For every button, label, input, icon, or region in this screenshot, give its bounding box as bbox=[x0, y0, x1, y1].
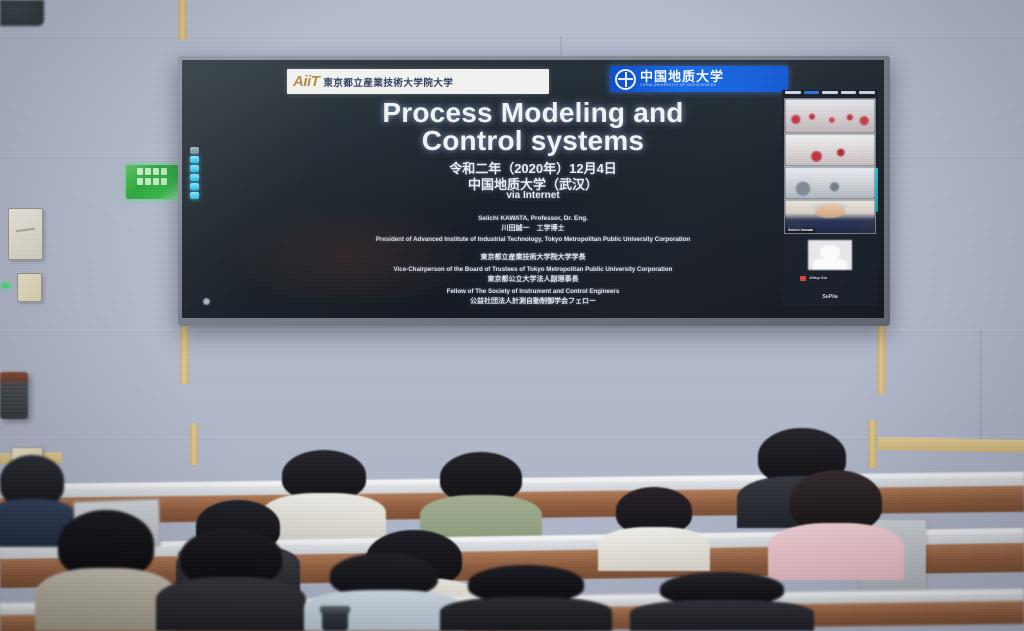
annotation-toolbar[interactable] bbox=[190, 147, 199, 199]
shape-tool-icon[interactable] bbox=[190, 174, 199, 181]
mic-muted-icon bbox=[800, 276, 806, 281]
wall-accent-stripe bbox=[190, 423, 198, 465]
pen-tool-icon[interactable] bbox=[190, 147, 199, 154]
video-panel-toolbar[interactable] bbox=[782, 90, 878, 95]
eraser-tool-icon[interactable] bbox=[190, 165, 199, 172]
travel-cup-on-desk[interactable] bbox=[322, 606, 348, 631]
student-back-1 bbox=[282, 450, 366, 540]
wall-accent-stripe bbox=[178, 0, 187, 40]
vc-toolbar-chip[interactable] bbox=[841, 91, 857, 94]
wall-seam bbox=[980, 330, 982, 440]
video-tile-remote-classroom-3[interactable] bbox=[784, 166, 876, 200]
student-mid-3 bbox=[616, 487, 692, 571]
slide-mode-line: via Internet bbox=[182, 190, 884, 201]
cug-logo-cn-text: 中国地质大学 bbox=[640, 70, 724, 84]
video-tile-name-label: Seiichi Kawata bbox=[786, 228, 815, 233]
wall-accent-stripe bbox=[868, 420, 877, 468]
video-conference-panel[interactable]: Seiichi Kawata Jiffup Xiu SuPiia bbox=[782, 90, 878, 306]
self-view-avatar[interactable] bbox=[808, 240, 852, 270]
wall-accent-stripe bbox=[877, 322, 886, 394]
credential-line: Seiichi KAWATA, Professor, Dr. Eng. bbox=[182, 215, 884, 223]
student-mid-1 bbox=[0, 455, 64, 547]
wall-outlet-box[interactable] bbox=[17, 273, 42, 302]
pointer-tool-icon[interactable] bbox=[190, 183, 199, 190]
cug-logo: 中国地质大学 CHINA UNIVERSITY OF GEOSCIENCES bbox=[610, 66, 788, 92]
wall-seam bbox=[0, 330, 1024, 332]
credential-line: 川田誠一 工学博士 bbox=[182, 225, 884, 233]
vc-toolbar-chip[interactable] bbox=[785, 91, 801, 94]
video-tile-remote-classroom-2[interactable] bbox=[784, 133, 876, 167]
highlighter-tool-icon[interactable] bbox=[190, 156, 199, 163]
lecture-hall-screenshot: AiiT 東京都立産業技術大学院大学 中国地质大学 CHINA UNIVERSI… bbox=[0, 0, 1024, 631]
ceiling-speaker-unit bbox=[0, 372, 28, 419]
video-tile-remote-classroom-1[interactable] bbox=[784, 98, 876, 134]
presentation-display-bezel: AiiT 東京都立産業技術大学院大学 中国地质大学 CHINA UNIVERSI… bbox=[178, 56, 890, 326]
active-speaker-indicator bbox=[875, 168, 878, 212]
wall-control-box[interactable] bbox=[8, 208, 43, 260]
credential-line: Fellow of The Society of Instrument and … bbox=[182, 288, 884, 295]
video-tile-remote-speaker[interactable]: Seiichi Kawata bbox=[784, 199, 876, 234]
vc-toolbar-chip[interactable] bbox=[822, 91, 838, 94]
student-front-2 bbox=[180, 528, 282, 631]
cug-logo-en-text: CHINA UNIVERSITY OF GEOSCIENCES bbox=[640, 84, 724, 88]
vc-toolbar-chip[interactable] bbox=[859, 91, 875, 94]
status-led bbox=[2, 283, 9, 288]
aiit-logo-jp-text: 東京都立産業技術大学院大学 bbox=[323, 75, 453, 89]
student-mid-5 bbox=[790, 470, 882, 580]
wall-seam bbox=[0, 36, 1024, 38]
aiit-logo-mark: AiiT bbox=[293, 73, 319, 90]
presentation-cursor bbox=[203, 298, 210, 305]
credential-line: 東京都立産業技術大学院大学学長 bbox=[182, 254, 884, 262]
wall-accent-stripe bbox=[878, 437, 1024, 453]
cug-logo-mark bbox=[615, 69, 636, 90]
credential-line: President of Advanced Institute of Indus… bbox=[238, 236, 828, 243]
video-panel-footer-label: SuPiia bbox=[782, 294, 878, 300]
slide-title-line-1: Process Modeling and bbox=[182, 98, 884, 127]
student-back-2 bbox=[440, 452, 522, 542]
self-view-name-label: Jiffup Xiu bbox=[809, 275, 827, 280]
credential-line: 東京都公立大学法人副理事長 bbox=[182, 276, 884, 284]
emergency-exit-sign bbox=[126, 165, 178, 199]
student-front-4 bbox=[468, 565, 584, 631]
student-front-1 bbox=[58, 510, 154, 631]
presentation-slide[interactable]: AiiT 東京都立産業技術大学院大学 中国地质大学 CHINA UNIVERSI… bbox=[182, 60, 884, 318]
aiit-logo: AiiT 東京都立産業技術大学院大学 bbox=[287, 69, 549, 94]
ceiling-fixture-shadow bbox=[0, 0, 44, 26]
wall-accent-stripe bbox=[180, 322, 189, 384]
vc-toolbar-chip-active[interactable] bbox=[804, 91, 820, 94]
student-front-5 bbox=[660, 572, 784, 631]
slide-title-line-2: Control systems bbox=[182, 126, 884, 155]
credential-line: 公益社団法人計測自動制御学会フェロー bbox=[182, 298, 884, 306]
credential-line: Vice-Chairperson of the Board of Trustee… bbox=[182, 266, 884, 273]
clear-tool-icon[interactable] bbox=[190, 192, 199, 199]
